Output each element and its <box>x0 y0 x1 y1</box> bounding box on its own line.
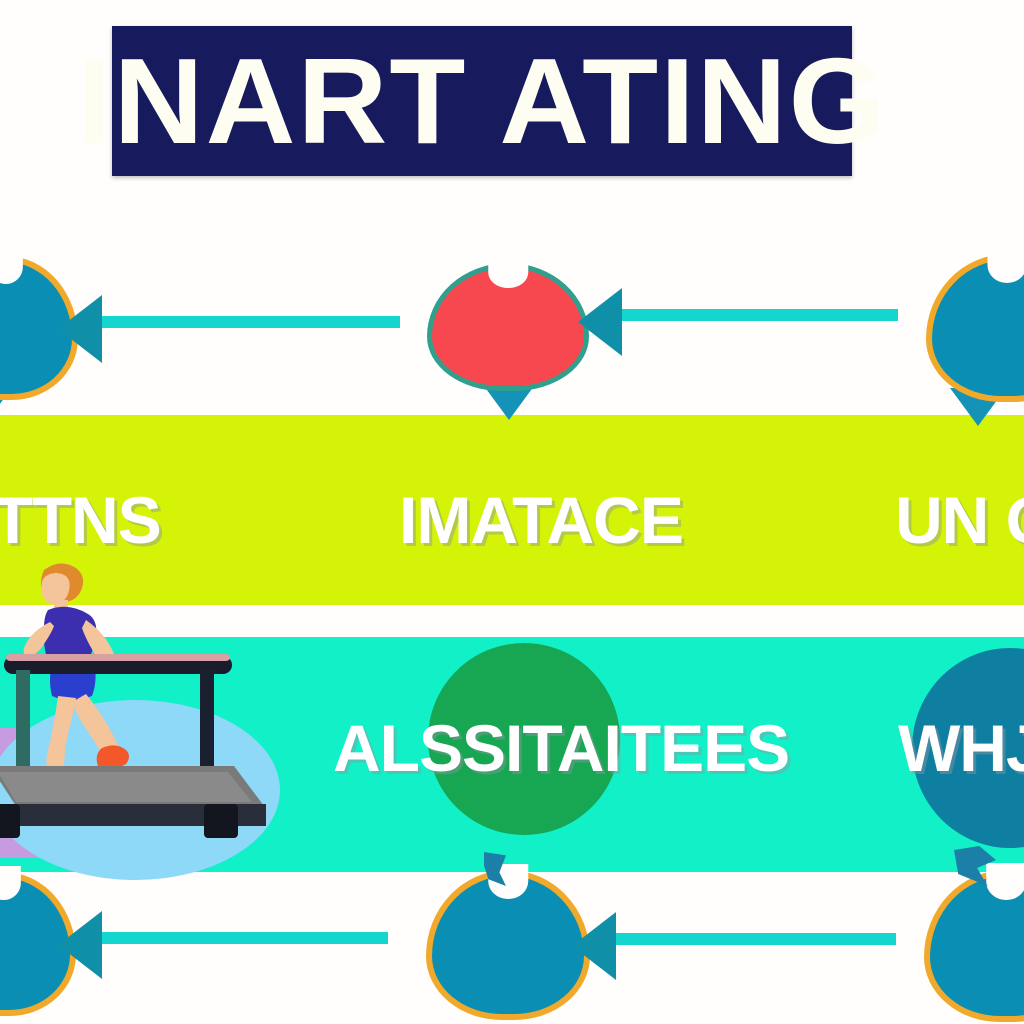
arrow-line-bottom-center <box>604 933 896 945</box>
arrow-head-top-left <box>58 295 102 363</box>
infographic-canvas: INART ATING LTTNS IMATACE UN G <box>0 0 1024 1024</box>
green-band-label-right: UN G <box>895 482 1024 558</box>
arrow-head-bottom-center <box>572 912 616 980</box>
funnel-top-left <box>0 390 10 426</box>
arrow-line-top-center <box>610 309 898 321</box>
arrow-line-top-left <box>90 316 400 328</box>
cyan-band-label-right: WHJ <box>898 710 1024 786</box>
heart-top-center <box>432 268 584 386</box>
treadmill-frame <box>0 654 266 838</box>
green-band-label-center: IMATACE <box>399 482 683 558</box>
title-banner: INART ATING <box>112 26 852 176</box>
runner-figure <box>24 563 129 787</box>
cyan-band-label-center: ALSSITAITEES <box>333 710 789 786</box>
treadmill-illustration <box>0 560 282 890</box>
arrow-head-bottom-left <box>58 911 102 979</box>
arrow-line-bottom-left <box>88 932 388 944</box>
apple-top-right <box>932 260 1024 396</box>
funnel-top-center <box>481 382 537 420</box>
page-title: INART ATING <box>77 40 887 162</box>
green-band-label-left: LTTNS <box>0 482 161 558</box>
arrow-head-top-center <box>578 288 622 356</box>
apple-bottom-center <box>432 876 584 1014</box>
apple-bottom-right <box>930 876 1024 1016</box>
